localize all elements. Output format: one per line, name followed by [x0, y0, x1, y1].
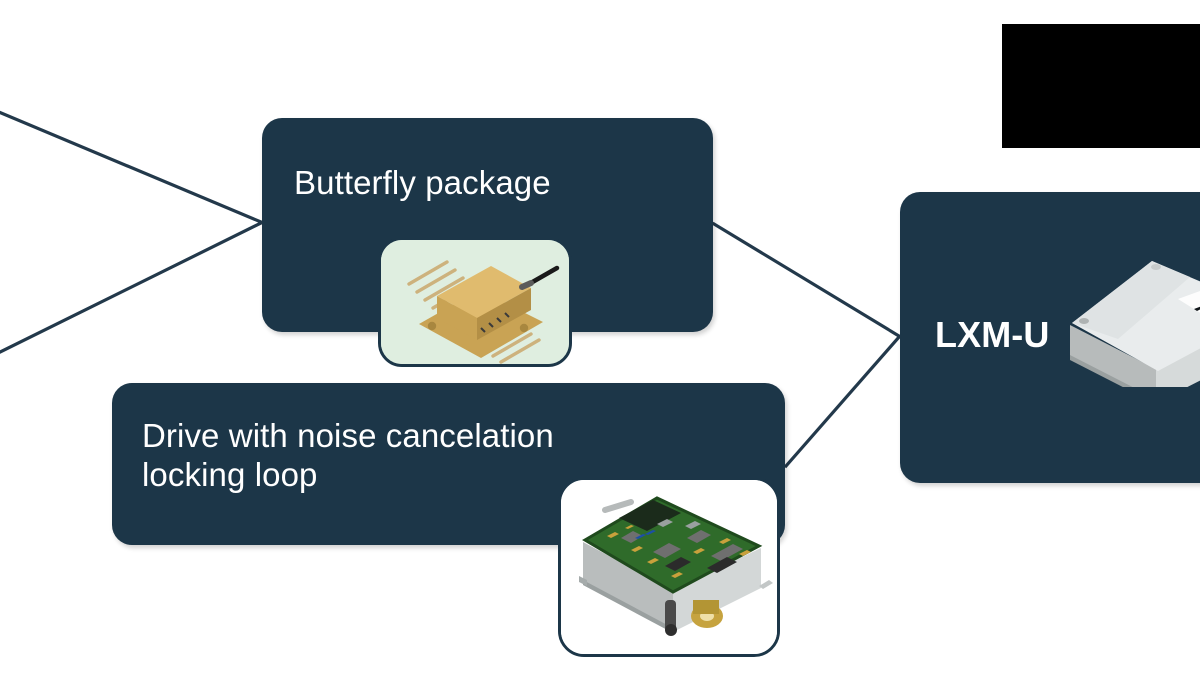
black-video-panel	[1002, 24, 1200, 148]
butterfly-laser-package-icon	[381, 240, 569, 364]
node-butterfly-package-label: Butterfly package	[294, 164, 551, 203]
connector-in-bottom	[0, 223, 261, 355]
lxm-u-metal-enclosure-icon	[1060, 207, 1200, 387]
connector-drive-to-lxmu	[786, 337, 899, 466]
driver-pcb-module-thumbnail[interactable]	[558, 477, 780, 657]
connector-butterfly-to-lxmu	[714, 224, 899, 336]
diagram-canvas: Butterfly package	[0, 0, 1200, 675]
connector-in-top	[0, 110, 261, 222]
driver-pcb-module-icon	[561, 480, 777, 654]
node-lxm-u-label: LXM-U	[935, 314, 1049, 356]
butterfly-laser-package-thumbnail[interactable]	[378, 237, 572, 367]
node-lxm-u[interactable]: LXM-U	[900, 192, 1200, 483]
node-drive-noise-cancelation-label: Drive with noise cancelation locking loo…	[142, 417, 554, 495]
